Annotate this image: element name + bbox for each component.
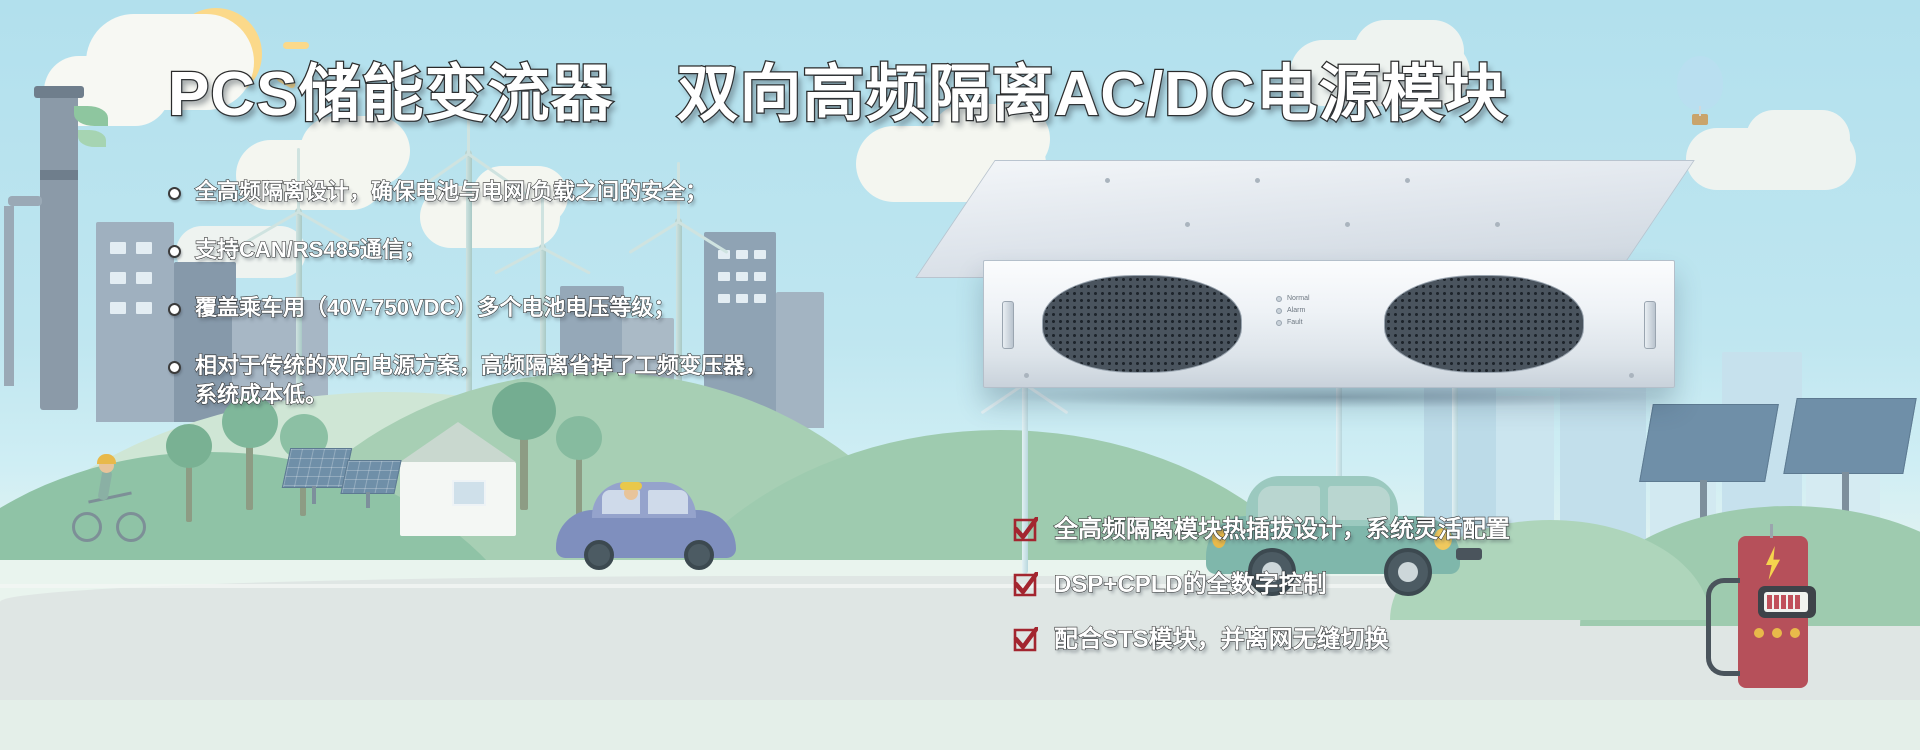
check-mark-icon <box>1012 627 1038 653</box>
charger-button-icon <box>1772 628 1782 638</box>
battery-cell-icon <box>1788 595 1793 609</box>
feature-text: 全高频隔离设计，确保电池与电网/负载之间的安全； <box>195 178 707 206</box>
battery-cell-icon <box>1795 595 1800 609</box>
solar-panel-leg-icon <box>366 492 370 508</box>
led-indicator-group: Normal Alarm Fault <box>1276 295 1310 331</box>
car-wheel-icon <box>684 540 714 570</box>
check-mark-icon <box>1012 517 1038 543</box>
battery-cell-icon <box>1781 595 1786 609</box>
led-label: Fault <box>1287 319 1303 326</box>
device-screw-icon <box>1185 222 1190 227</box>
turbine-blade-icon <box>467 82 470 154</box>
bullet-dot-icon <box>168 361 181 374</box>
window-icon <box>136 302 152 314</box>
window-icon <box>110 272 126 284</box>
bullet-dot-icon <box>168 187 181 200</box>
led-dot-icon <box>1276 320 1282 326</box>
feature-text: 覆盖乘车用（40V-750VDC）多个电池电压等级； <box>195 294 675 322</box>
feature-text: 支持CAN/RS485通信； <box>195 236 426 264</box>
highlight-text: DSP+CPLD的全数字控制 <box>1054 571 1327 600</box>
list-item: 全高频隔离模块热插拔设计，系统灵活配置 <box>1012 516 1772 545</box>
device-handle-icon <box>1644 301 1656 349</box>
charger-button-icon <box>1790 628 1800 638</box>
sun-ray-icon <box>283 42 309 49</box>
highlight-text: 配合STS模块，并离网无缝切换 <box>1054 626 1389 655</box>
highlight-list: 全高频隔离模块热插拔设计，系统灵活配置 DSP+CPLD的全数字控制 配合STS… <box>1012 516 1772 680</box>
cloud-icon <box>1746 110 1850 166</box>
bicycle-wheel-icon <box>72 512 102 542</box>
window-icon <box>110 242 126 254</box>
ev-car-window-icon <box>1258 486 1320 520</box>
list-item: 支持CAN/RS485通信； <box>168 236 888 264</box>
balloon-rope-icon <box>1699 106 1701 116</box>
promotional-banner: PCS储能变流器 双向高频隔离AC/DC电源模块 全高频隔离设计，确保电池与电网… <box>0 0 1920 750</box>
cloud-icon <box>300 116 410 186</box>
ev-car-window-icon <box>1328 486 1390 520</box>
car-wheel-icon <box>584 540 614 570</box>
list-item: 覆盖乘车用（40V-750VDC）多个电池电压等级； <box>168 294 888 322</box>
cloud-icon <box>1354 20 1464 82</box>
stack-pipe-icon <box>8 196 42 206</box>
list-item: 相对于传统的双向电源方案，高频隔离省掉了工频变压器， 系统成本低。 <box>168 352 888 408</box>
bicycle-wheel-icon <box>116 512 146 542</box>
device-screw-icon <box>1255 178 1260 183</box>
feature-text: 相对于传统的双向电源方案，高频隔离省掉了工频变压器， 系统成本低。 <box>195 352 767 408</box>
device-screw-icon <box>1345 222 1350 227</box>
smokestack-icon <box>40 90 78 410</box>
led-dot-icon <box>1276 296 1282 302</box>
solar-panel-icon <box>340 460 401 494</box>
device-vent-grille <box>1042 275 1242 373</box>
list-item: DSP+CPLD的全数字控制 <box>1012 571 1772 600</box>
led-indicator: Alarm <box>1276 307 1310 314</box>
device-shadow <box>1005 386 1665 408</box>
device-vent-grille <box>1384 275 1584 373</box>
device-handle-icon <box>1002 301 1014 349</box>
feature-list: 全高频隔离设计，确保电池与电网/负载之间的安全； 支持CAN/RS485通信； … <box>168 178 888 439</box>
device-screw-icon <box>1629 373 1634 378</box>
led-indicator: Normal <box>1276 295 1310 302</box>
device-screw-icon <box>1495 222 1500 227</box>
bullet-dot-icon <box>168 303 181 316</box>
device-front-panel: Normal Alarm Fault <box>983 260 1675 388</box>
window-icon <box>136 242 152 254</box>
highlight-text: 全高频隔离模块热插拔设计，系统灵活配置 <box>1054 516 1510 545</box>
grass-strip <box>0 700 1920 750</box>
check-mark-icon <box>1012 572 1038 598</box>
product-device-image: Normal Alarm Fault <box>955 160 1695 420</box>
cyclist-helmet-icon <box>97 454 116 464</box>
smokestack-band-icon <box>40 170 78 180</box>
building-icon <box>96 222 174 422</box>
solar-panel-icon <box>282 448 353 488</box>
battery-cell-icon <box>1774 595 1779 609</box>
led-label: Alarm <box>1287 307 1305 314</box>
window-icon <box>136 272 152 284</box>
solar-panel-icon <box>1783 398 1916 474</box>
smokestack-band-icon <box>34 86 84 98</box>
solar-panel-leg-icon <box>312 486 316 504</box>
list-item: 全高频隔离设计，确保电池与电网/负载之间的安全； <box>168 178 888 206</box>
led-label: Normal <box>1287 295 1310 302</box>
car-window-icon <box>648 490 688 514</box>
device-screw-icon <box>1405 178 1410 183</box>
device-screw-icon <box>1024 373 1029 378</box>
window-icon <box>110 302 126 314</box>
driver-hat-icon <box>620 482 642 490</box>
house-window-icon <box>452 480 486 506</box>
led-dot-icon <box>1276 308 1282 314</box>
hot-air-balloon-icon <box>1677 56 1723 110</box>
list-item: 配合STS模块，并离网无缝切换 <box>1012 626 1772 655</box>
stack-pipe-icon <box>4 206 14 386</box>
bullet-dot-icon <box>168 245 181 258</box>
device-screw-icon <box>1105 178 1110 183</box>
led-indicator: Fault <box>1276 319 1310 326</box>
